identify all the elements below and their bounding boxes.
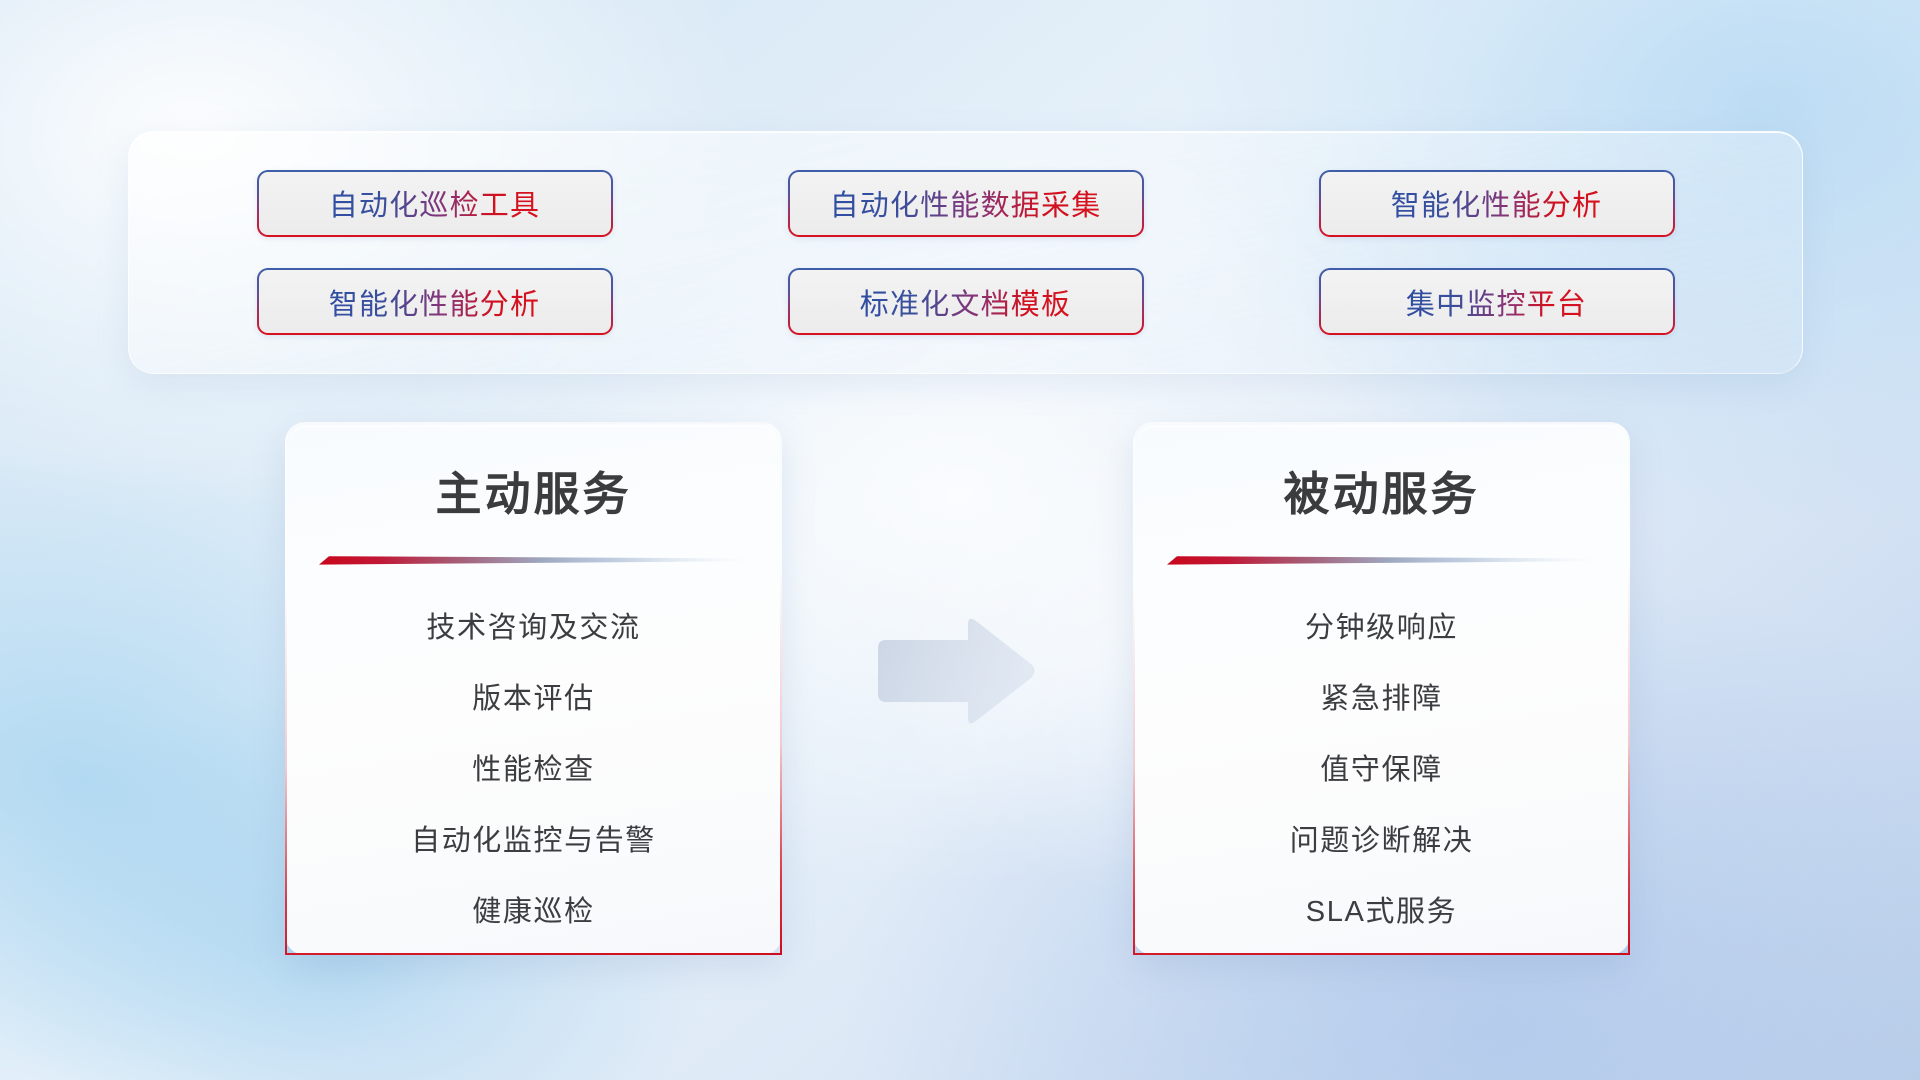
service-card-proactive-title: 主动服务 xyxy=(287,458,780,524)
list-item: 自动化监控与告警 xyxy=(287,806,780,877)
reactive-service-list: 分钟级响应 紧急排障 值守保障 问题诊断解决 SLA式服务 xyxy=(1135,593,1628,948)
capability-pill-6-body: 集中监控平台 xyxy=(1321,270,1673,333)
capability-pill-3[interactable]: 智能化性能分析 xyxy=(1319,170,1675,237)
list-item: 问题诊断解决 xyxy=(1135,806,1628,877)
list-item: 值守保障 xyxy=(1135,735,1628,806)
service-card-reactive-title: 被动服务 xyxy=(1135,458,1628,524)
list-item: SLA式服务 xyxy=(1135,877,1628,948)
capability-pill-5[interactable]: 标准化文档模板 xyxy=(788,268,1144,335)
service-card-proactive: 主动服务 技术咨询及交流 版本评估 xyxy=(285,422,782,955)
capability-pill-5-label: 标准化文档模板 xyxy=(860,281,1071,323)
capability-pill-6-label: 集中监控平台 xyxy=(1406,281,1587,323)
capability-pill-6[interactable]: 集中监控平台 xyxy=(1319,268,1675,335)
capability-pill-4-body: 智能化性能分析 xyxy=(259,270,611,333)
capability-pill-2-body: 自动化性能数据采集 xyxy=(790,172,1142,235)
proactive-divider xyxy=(319,554,749,565)
list-item: 技术咨询及交流 xyxy=(287,593,780,664)
list-item: 健康巡检 xyxy=(287,877,780,948)
list-item: 版本评估 xyxy=(287,664,780,735)
slide-canvas: 自动化巡检工具 自动化性能数据采集 智能化性能分析 智能化性能分析 标准化文档模… xyxy=(0,0,1920,1080)
capability-pill-4[interactable]: 智能化性能分析 xyxy=(257,268,613,335)
reactive-divider xyxy=(1167,554,1597,565)
capability-pill-4-label: 智能化性能分析 xyxy=(329,281,540,323)
capability-panel: 自动化巡检工具 自动化性能数据采集 智能化性能分析 智能化性能分析 标准化文档模… xyxy=(128,131,1803,374)
capability-pill-3-body: 智能化性能分析 xyxy=(1321,172,1673,235)
capability-pill-2[interactable]: 自动化性能数据采集 xyxy=(788,170,1144,237)
capability-pill-1[interactable]: 自动化巡检工具 xyxy=(257,170,613,237)
service-card-reactive: 被动服务 分钟级响应 紧急排障 xyxy=(1133,422,1630,955)
list-item: 性能检查 xyxy=(287,735,780,806)
list-item: 分钟级响应 xyxy=(1135,593,1628,664)
capability-pill-2-label: 自动化性能数据采集 xyxy=(830,182,1102,224)
capability-pill-3-label: 智能化性能分析 xyxy=(1391,182,1602,224)
arrow-right-icon xyxy=(870,615,1038,727)
capability-pill-5-body: 标准化文档模板 xyxy=(790,270,1142,333)
list-item: 紧急排障 xyxy=(1135,664,1628,735)
proactive-service-list: 技术咨询及交流 版本评估 性能检查 自动化监控与告警 健康巡检 xyxy=(287,593,780,948)
capability-pill-1-body: 自动化巡检工具 xyxy=(259,172,611,235)
capability-pill-1-label: 自动化巡检工具 xyxy=(329,182,540,224)
